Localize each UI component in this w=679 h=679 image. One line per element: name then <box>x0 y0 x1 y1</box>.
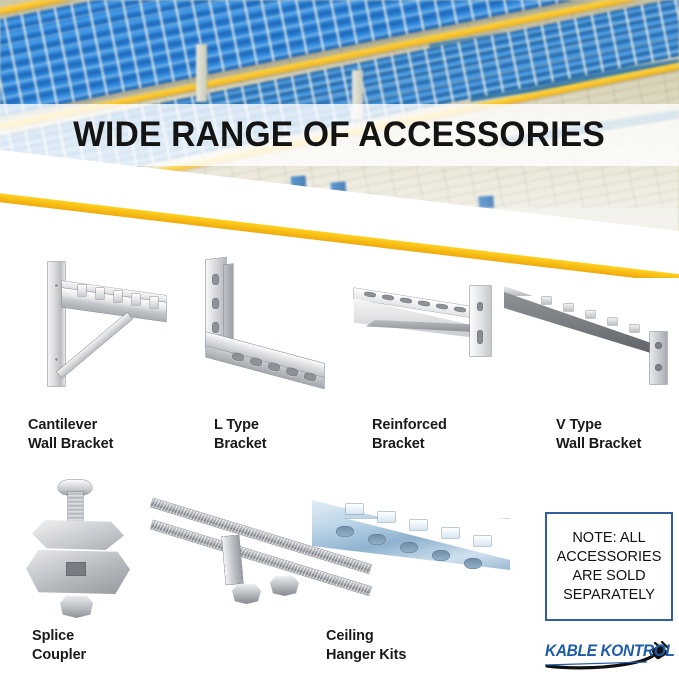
note-box: NOTE: ALL ACCESSORIES ARE SOLD SEPARATEL… <box>545 512 673 621</box>
product-cantilever-wall-bracket[interactable]: Cantilever Wall Bracket <box>22 258 182 473</box>
l-type-bracket-image <box>188 258 348 408</box>
channel-hole <box>464 558 482 569</box>
product-reinforced-bracket[interactable]: Reinforced Bracket <box>348 258 518 473</box>
bolt-hole <box>55 358 58 361</box>
channel-notch <box>474 536 491 546</box>
channel-hole <box>432 550 450 561</box>
channel-notch <box>346 504 363 514</box>
arm-slot-tab <box>78 285 86 296</box>
hex-nut <box>232 584 261 604</box>
leg-slot <box>212 322 219 333</box>
channel-notch <box>410 520 427 530</box>
channel-hole <box>400 542 418 553</box>
bolt-shank <box>68 492 83 525</box>
bolt-hole <box>477 302 483 311</box>
product-row-1: Cantilever Wall Bracket L Type Bracket <box>0 258 679 473</box>
product-label: V Type Wall Bracket <box>556 416 641 454</box>
cable-retainer-tab <box>564 304 573 311</box>
bracket-top-edge <box>504 286 654 296</box>
hex-nut <box>60 596 93 618</box>
product-label: Reinforced Bracket <box>372 416 447 454</box>
upper-splice-plate <box>32 520 124 550</box>
product-l-type-bracket[interactable]: L Type Bracket <box>188 258 348 473</box>
channel-lip <box>312 488 510 518</box>
reinforced-bracket-image <box>348 280 518 410</box>
bracket-body <box>504 292 654 354</box>
channel-hole <box>336 526 354 537</box>
product-splice-coupler[interactable]: Splice Coupler <box>18 472 158 672</box>
note-text: NOTE: ALL ACCESSORIES ARE SOLD SEPARATEL… <box>557 529 662 605</box>
bolt-hole <box>655 342 662 349</box>
splice-coupler-image <box>18 478 148 623</box>
brand-name: KABLE KONTROL <box>545 642 675 661</box>
wall-mounting-plate <box>650 332 667 384</box>
bolt-hole <box>655 364 662 371</box>
product-label: Ceiling Hanger Kits <box>326 627 406 665</box>
product-label: Cantilever Wall Bracket <box>28 416 113 454</box>
product-v-type-wall-bracket[interactable]: V Type Wall Bracket <box>500 258 679 473</box>
rod-coupler-sleeve <box>222 535 243 584</box>
wall-mounting-plate <box>470 286 491 356</box>
product-infographic: WIDE RANGE OF ACCESSORIES Cantilever Wal… <box>0 0 679 679</box>
product-ceiling-hanger-kits[interactable]: Ceiling Hanger Kits <box>158 472 538 672</box>
bolt-slot <box>477 330 483 344</box>
diagonal-brace <box>57 313 133 378</box>
title-band: WIDE RANGE OF ACCESSORIES <box>0 104 679 166</box>
leg-slot <box>212 298 219 309</box>
product-label: Splice Coupler <box>32 627 86 665</box>
channel-notch <box>378 512 395 522</box>
hero-banner: WIDE RANGE OF ACCESSORIES <box>0 0 679 278</box>
product-label: L Type Bracket <box>214 416 267 454</box>
cable-retainer-tab <box>586 311 595 318</box>
hex-nut <box>270 576 299 596</box>
page-title: WIDE RANGE OF ACCESSORIES <box>74 115 606 155</box>
channel-hole <box>368 534 386 545</box>
arm-slot-tab <box>132 294 140 305</box>
v-type-bracket-image <box>500 272 679 408</box>
cable-retainer-tab <box>608 318 617 325</box>
leg-slot <box>212 274 219 285</box>
brand-logo[interactable]: KABLE KONTROL <box>545 640 673 672</box>
strut-channel-image <box>310 486 522 616</box>
plate-slot <box>66 562 86 576</box>
bolt-hole <box>55 284 58 287</box>
cable-retainer-tab <box>630 325 639 332</box>
arm-slot-tab <box>114 291 122 302</box>
arm-slot-tab <box>150 297 158 308</box>
channel-notch <box>442 528 459 538</box>
arm-slot-tab <box>96 288 104 299</box>
cantilever-bracket-image <box>22 258 182 408</box>
cable-retainer-tab <box>542 297 551 304</box>
